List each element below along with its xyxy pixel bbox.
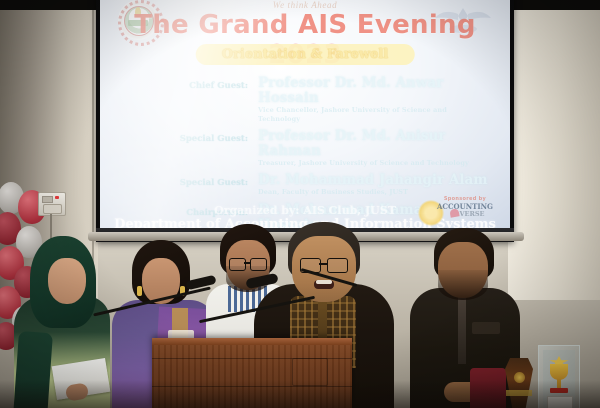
wooden-podium	[152, 338, 352, 408]
guest-row: Special Guest: Dr. Mohammad Jahangir Ala…	[162, 173, 490, 198]
heart-icon	[449, 208, 459, 217]
guest-row: Special Guest: Professor Dr. Md. Anisur …	[162, 129, 490, 168]
gold-trophy-display-case	[538, 345, 580, 408]
woman-green-hijab	[14, 236, 114, 408]
sponsor-block: Sponsored by ACCOUNTING VERSE	[426, 196, 504, 218]
socket-indicator-light	[55, 196, 59, 199]
socket-outlet	[43, 204, 62, 214]
socket-switch[interactable]	[42, 196, 53, 203]
trophy-plaque	[547, 396, 573, 408]
guest-designation: Vice Chancellor, Jashore University of S…	[258, 106, 490, 124]
guest-designation: Treasurer, Jashore University of Science…	[258, 159, 490, 168]
guest-name: Professor Dr. Md. Anisur Rahman	[258, 129, 490, 159]
man-black-panjabi	[410, 230, 524, 408]
crest-band	[506, 390, 532, 396]
earring-icon	[137, 286, 142, 296]
crest-medallion-icon	[514, 372, 525, 383]
trophy-icon	[550, 364, 568, 380]
projection-screen: We think Ahead The Grand AIS Evening 202…	[96, 0, 514, 242]
podium-side-panel	[292, 358, 328, 386]
red-chair	[470, 368, 506, 408]
guest-row: Chief Guest: Professor Dr. Md. Anwar Hos…	[162, 76, 490, 124]
sponsor-logo: ACCOUNTING VERSE	[426, 203, 504, 218]
guest-role: Special Guest:	[162, 129, 258, 144]
guest-role: Special Guest:	[162, 173, 258, 188]
sponsor-name-line-2: VERSE	[426, 211, 504, 219]
projection-screen-surface: We think Ahead The Grand AIS Evening 202…	[100, 0, 510, 228]
guest-name: Dr. Mohammad Jahangir Alam	[258, 173, 490, 188]
presentation-slide: We think Ahead The Grand AIS Evening 202…	[100, 0, 510, 228]
slide-tagline: We think Ahead	[100, 0, 510, 10]
guest-role: Chief Guest:	[162, 76, 258, 91]
event-photograph: We think Ahead The Grand AIS Evening 202…	[0, 0, 600, 408]
slide-subtitle-banner: Orientation & Farewell	[196, 44, 415, 65]
guest-name: Professor Dr. Md. Anwar Hossain	[258, 76, 490, 106]
wall-socket-panel[interactable]	[38, 192, 66, 216]
